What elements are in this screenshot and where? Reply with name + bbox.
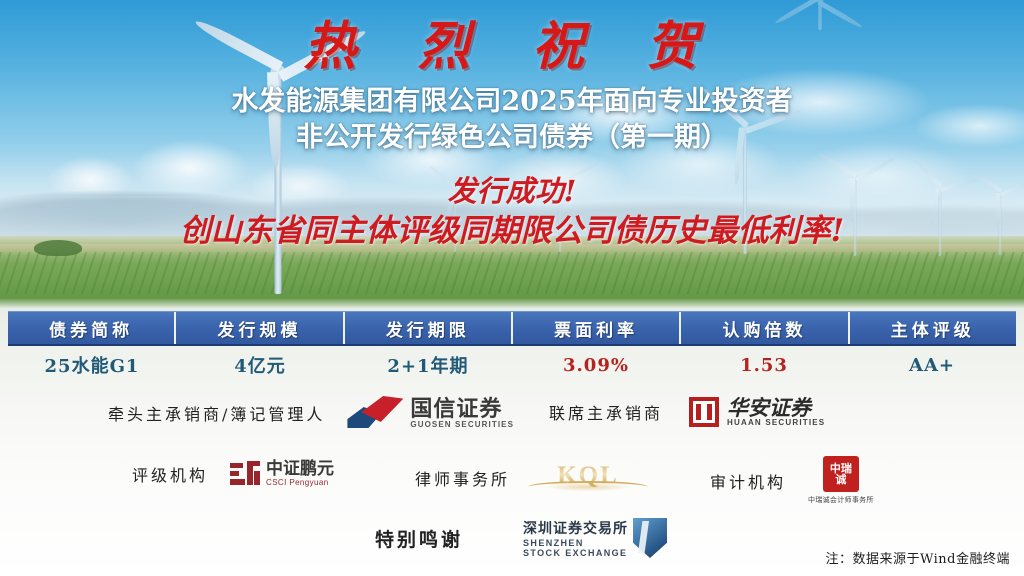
csci-pengyuan-mark-icon: [230, 461, 260, 487]
guosen-name-cn: 国信证券: [410, 398, 514, 420]
zhongrui-cheng-logo: 中瑞诚 中瑞诚会计师事务所: [808, 456, 874, 505]
guosen-name-en: GUOSEN SECURITIES: [410, 420, 514, 429]
szse-name-en-1: SHENZHEN: [523, 538, 628, 548]
photo-bottom-fade: [0, 298, 1024, 308]
shenzhen-stock-exchange-logo: 深圳证券交易所 SHENZHEN STOCK EXCHANGE: [523, 518, 667, 558]
kql-swoosh-icon: [528, 481, 648, 493]
column-header-issue-size: 发行规模: [176, 312, 344, 344]
law-firm-label: 律师事务所: [415, 466, 510, 490]
guosen-securities-logo: 国信证券 GUOSEN SECURITIES: [347, 396, 514, 430]
lead-underwriter-group: 牵头主承销商/簿记管理人 国信证券 GUOSEN SECURITIES: [108, 396, 514, 430]
szse-name-en-2: STOCK EXCHANGE: [523, 548, 628, 558]
crop-rows: [0, 252, 1024, 294]
column-header-issue-term: 发行期限: [345, 312, 513, 344]
guosen-mark-icon: [347, 396, 403, 430]
zhongrui-caption: 中瑞诚会计师事务所: [808, 495, 874, 505]
cell-coupon-rate: 3.09%: [512, 348, 680, 382]
bond-table-header: 债券简称 发行规模 发行期限 票面利率 认购倍数 主体评级: [8, 311, 1016, 346]
csci-pengyuan-name-cn: 中证鹏元: [266, 461, 334, 478]
cell-issue-size: 4亿元: [176, 348, 344, 382]
audit-agency-label: 审计机构: [710, 469, 786, 493]
congratulation-poster: 热 烈 祝 贺 水发能源集团有限公司2025年面向专业投资者 非公开发行绿色公司…: [0, 0, 1024, 576]
page-title: 热 烈 祝 贺: [0, 4, 1024, 79]
lead-underwriter-label: 牵头主承销商/簿记管理人: [108, 401, 325, 425]
success-headline: 发行成功!: [0, 168, 1024, 210]
joint-underwriter-label: 联席主承销商: [549, 400, 663, 424]
cell-issuer-rating: AA+: [848, 348, 1016, 382]
column-header-issuer-rating: 主体评级: [850, 312, 1016, 344]
cell-issue-term: 2+1年期: [344, 348, 512, 382]
subtitle: 水发能源集团有限公司2025年面向专业投资者 非公开发行绿色公司债券（第一期）: [0, 84, 1024, 156]
special-thanks-group: 特别鸣谢 深圳证券交易所 SHENZHEN STOCK EXCHANGE: [375, 518, 667, 558]
huaan-securities-logo: 华安证券 HUAAN SECURITIES: [689, 397, 825, 427]
special-thanks-label: 特别鸣谢: [375, 525, 463, 552]
huaan-name-en: HUAAN SECURITIES: [727, 418, 825, 427]
cell-bond-name: 25水能G1: [8, 348, 176, 382]
subtitle-line-2: 非公开发行绿色公司债券（第一期）: [0, 120, 1024, 156]
csci-pengyuan-logo: 中证鹏元 CSCI Pengyuan: [230, 461, 334, 487]
rating-agency-label: 评级机构: [132, 462, 208, 486]
kql-law-firm-logo: KQL: [528, 461, 648, 495]
huaan-name-cn: 华安证券: [727, 397, 825, 418]
record-headline: 创山东省同主体评级同期限公司债历史最低利率!: [0, 205, 1024, 250]
huaan-seal-icon: [689, 397, 719, 427]
joint-underwriter-group: 联席主承销商 华安证券 HUAAN SECURITIES: [549, 397, 825, 427]
data-source-note: 注：数据来源于Wind金融终端: [826, 548, 1011, 567]
column-header-coupon-rate: 票面利率: [513, 312, 681, 344]
szse-name-cn: 深圳证券交易所: [523, 518, 628, 538]
rating-agency-group: 评级机构 中证鹏元 CSCI Pengyuan: [132, 461, 334, 487]
cell-subscription-multiple: 1.53: [680, 348, 848, 382]
law-firm-group: 律师事务所 KQL: [415, 461, 648, 495]
szse-shield-icon: [633, 518, 667, 558]
csci-pengyuan-name-en: CSCI Pengyuan: [266, 478, 334, 487]
table-row: 25水能G1 4亿元 2+1年期 3.09% 1.53 AA+: [8, 348, 1016, 382]
zhongrui-seal-icon: 中瑞诚: [823, 456, 859, 492]
column-header-bond-name: 债券简称: [8, 312, 176, 344]
audit-agency-group: 审计机构 中瑞诚 中瑞诚会计师事务所: [710, 456, 874, 505]
column-header-subscription-multiple: 认购倍数: [681, 312, 849, 344]
zhongrui-seal-text: 中瑞诚: [826, 463, 856, 485]
subtitle-line-1: 水发能源集团有限公司2025年面向专业投资者: [0, 84, 1024, 120]
